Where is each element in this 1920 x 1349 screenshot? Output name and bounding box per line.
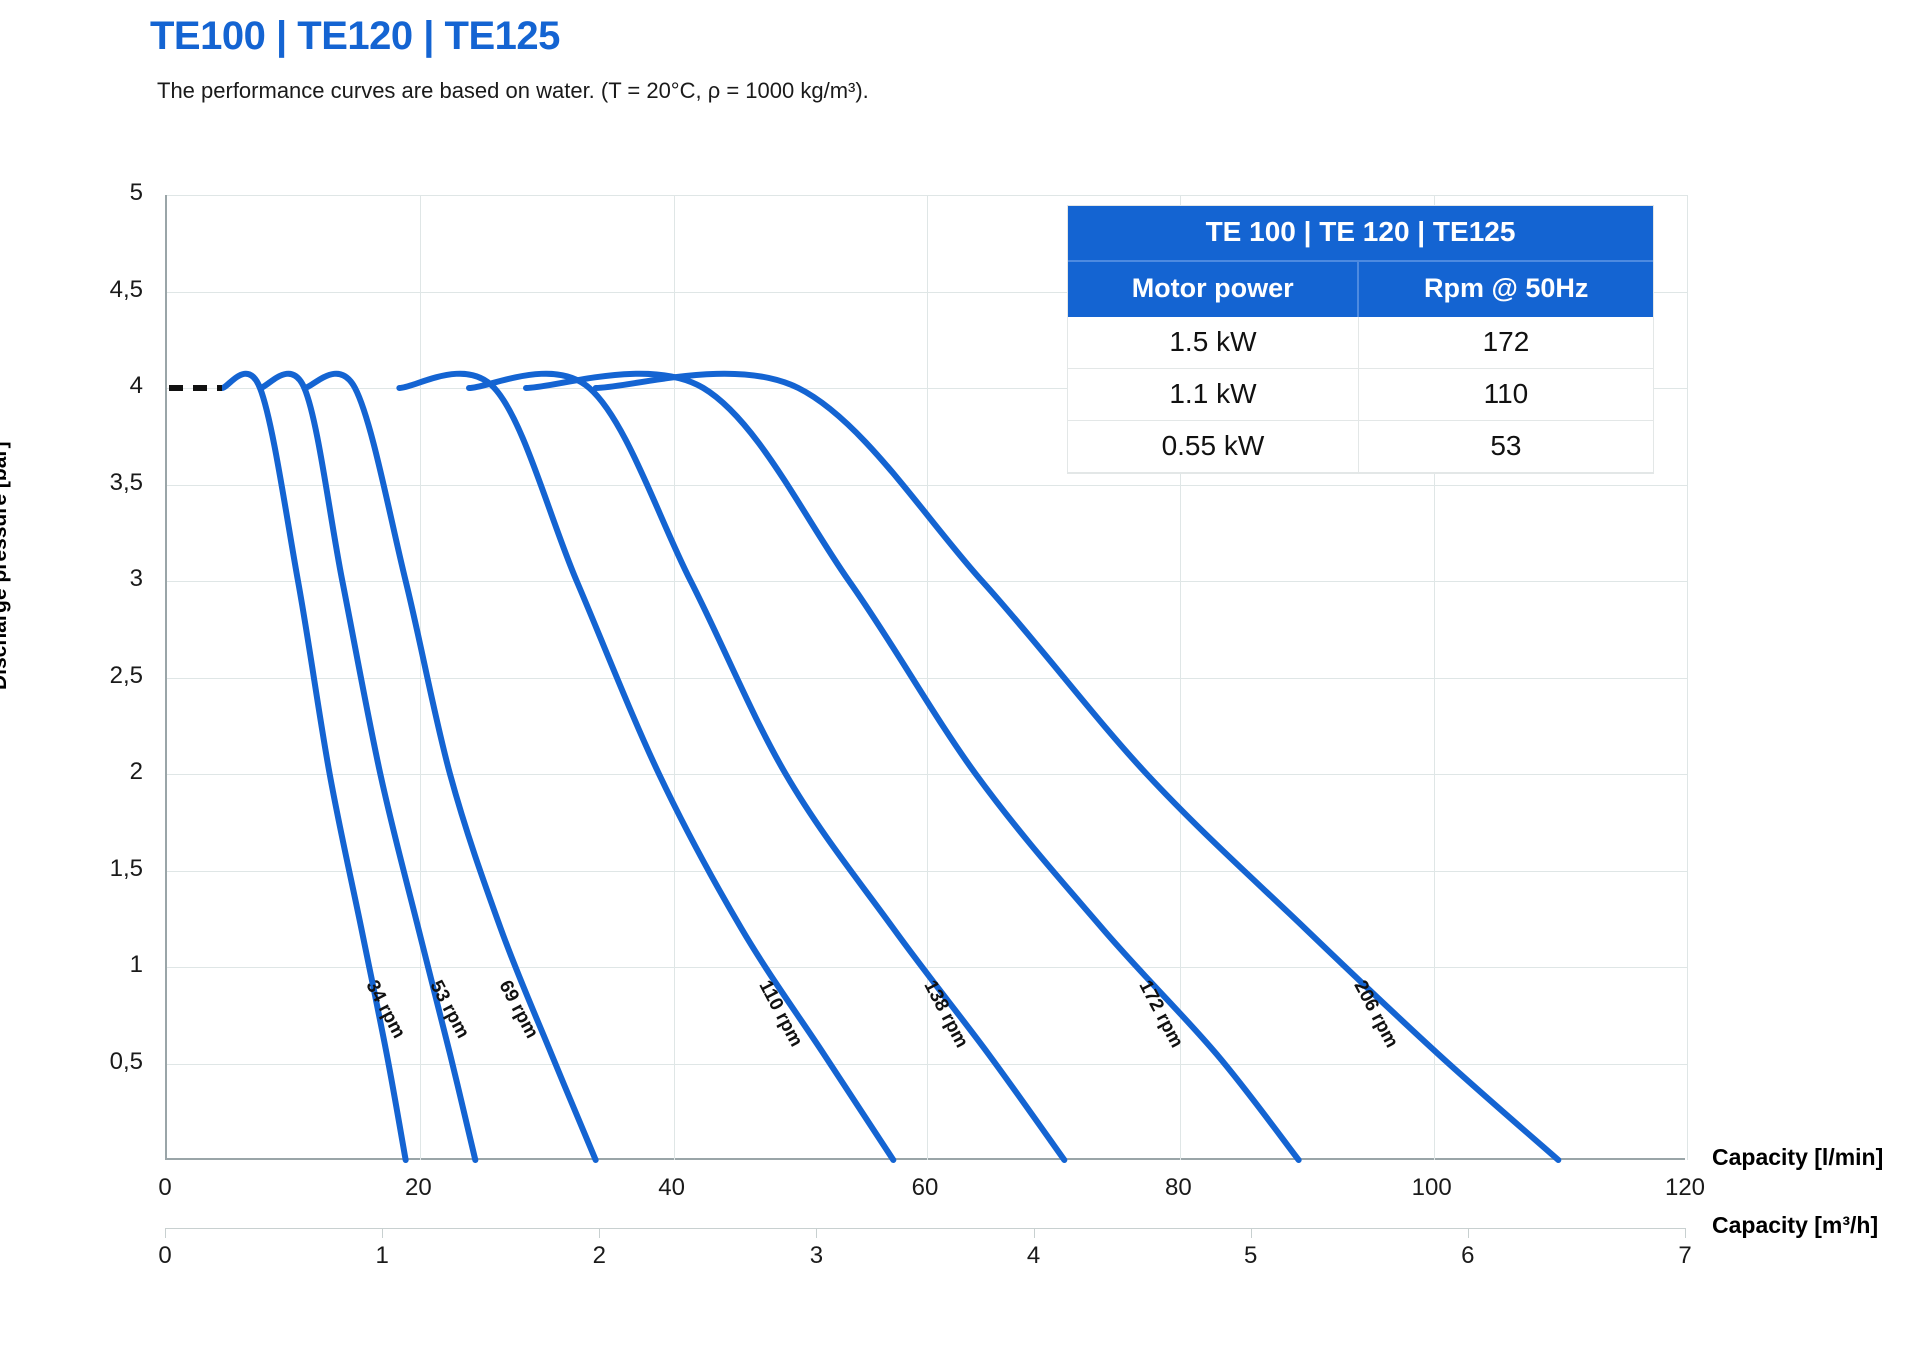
page-title: TE100 | TE120 | TE125 — [150, 14, 560, 59]
gridline-vertical — [927, 195, 928, 1160]
y-axis-tick-label: 1,5 — [83, 855, 143, 883]
x-axis-label-lmin: Capacity [l/min] — [1712, 1144, 1883, 1171]
cell-motor-power: 1.5 kW — [1068, 317, 1358, 369]
performance-curve-page: TE100 | TE120 | TE125 The performance cu… — [0, 0, 1920, 1349]
table-body: 1.5 kW1721.1 kW1100.55 kW53 — [1068, 317, 1653, 473]
y-axis-tick-label: 4,5 — [83, 276, 143, 304]
secondary-axis-tick — [165, 1228, 166, 1238]
x-axis-tick-label-lmin: 20 — [378, 1174, 458, 1202]
secondary-axis-tick — [1468, 1228, 1469, 1238]
cell-motor-power: 1.1 kW — [1068, 369, 1358, 421]
x-axis-tick-label-m3h: 5 — [1211, 1242, 1291, 1270]
column-header-motor-power: Motor power — [1068, 261, 1358, 317]
x-axis-tick-label-lmin: 0 — [125, 1174, 205, 1202]
table-title-row: TE 100 | TE 120 | TE125 — [1068, 206, 1653, 261]
cell-rpm: 53 — [1358, 421, 1653, 473]
y-axis-tick-label: 3 — [83, 565, 143, 593]
gridline-vertical — [420, 195, 421, 1160]
y-axis-tick-label: 2 — [83, 758, 143, 786]
x-axis-tick-label-lmin: 60 — [885, 1174, 965, 1202]
x-axis-tick-label-m3h: 6 — [1428, 1242, 1508, 1270]
y-axis-tick-label: 4 — [83, 372, 143, 400]
secondary-axis-tick — [816, 1228, 817, 1238]
table-row: 1.1 kW110 — [1068, 369, 1653, 421]
y-axis-tick-label: 3,5 — [83, 469, 143, 497]
secondary-axis-tick — [1251, 1228, 1252, 1238]
table-title: TE 100 | TE 120 | TE125 — [1068, 206, 1653, 261]
x-axis-tick-label-lmin: 100 — [1392, 1174, 1472, 1202]
table-header-row: Motor power Rpm @ 50Hz — [1068, 261, 1653, 317]
y-axis-tick-label: 1 — [83, 951, 143, 979]
secondary-axis-tick — [599, 1228, 600, 1238]
x-axis-tick-label-m3h: 0 — [125, 1242, 205, 1270]
page-subtitle: The performance curves are based on wate… — [157, 78, 869, 104]
x-axis-tick-label-m3h: 1 — [342, 1242, 422, 1270]
table-row: 1.5 kW172 — [1068, 317, 1653, 369]
x-axis-tick-label-lmin: 40 — [632, 1174, 712, 1202]
x-axis-tick-label-lmin: 120 — [1645, 1174, 1725, 1202]
cell-rpm: 172 — [1358, 317, 1653, 369]
x-axis-tick-label-m3h: 4 — [994, 1242, 1074, 1270]
cell-motor-power: 0.55 kW — [1068, 421, 1358, 473]
secondary-axis-line — [165, 1228, 1685, 1229]
table-row: 0.55 kW53 — [1068, 421, 1653, 473]
gridline-vertical — [674, 195, 675, 1160]
spec-table: TE 100 | TE 120 | TE125 Motor power Rpm … — [1068, 206, 1653, 473]
y-axis-tick-label: 5 — [83, 179, 143, 207]
x-axis-tick-label-lmin: 80 — [1138, 1174, 1218, 1202]
column-header-rpm: Rpm @ 50Hz — [1358, 261, 1653, 317]
gridline-vertical — [1687, 195, 1688, 1160]
y-axis-tick-label: 2,5 — [83, 662, 143, 690]
cell-rpm: 110 — [1358, 369, 1653, 421]
secondary-axis-tick — [382, 1228, 383, 1238]
x-axis-tick-label-m3h: 7 — [1645, 1242, 1725, 1270]
secondary-axis-tick — [1685, 1228, 1686, 1238]
y-axis-tick-label: 0,5 — [83, 1048, 143, 1076]
x-axis-label-m3h: Capacity [m³/h] — [1712, 1212, 1878, 1239]
x-axis-tick-label-m3h: 3 — [776, 1242, 856, 1270]
x-axis-tick-label-m3h: 2 — [559, 1242, 639, 1270]
y-axis-label: Discharge pressure [bar] — [0, 441, 12, 690]
secondary-axis-tick — [1034, 1228, 1035, 1238]
